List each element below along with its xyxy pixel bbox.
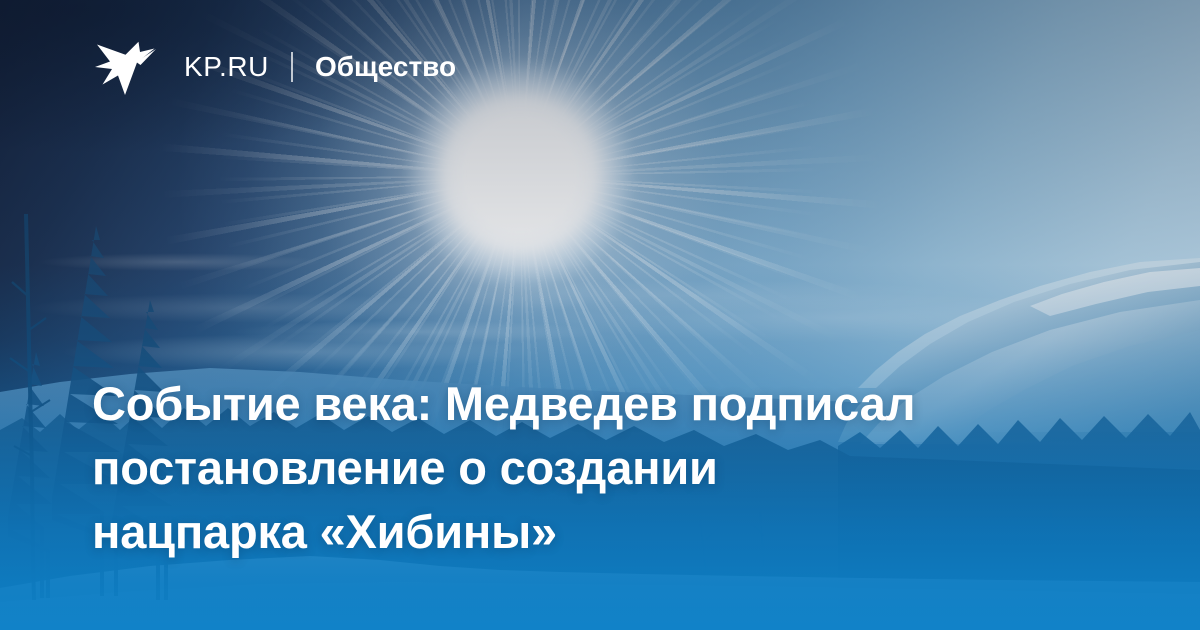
social-share-card: KP.RU Общество Событие века: Медведев по… — [0, 0, 1200, 630]
page-title: Событие века: Медведев подписал постанов… — [92, 372, 1102, 564]
rubric-label[interactable]: Общество — [315, 53, 456, 81]
headline-line-2: постановление о создании — [92, 436, 1102, 500]
card-header: KP.RU Общество — [92, 38, 456, 96]
headline-line-1: Событие века: Медведев подписал — [92, 372, 1102, 436]
brand-wordmark[interactable]: KP.RU — [184, 53, 269, 81]
headline-line-3: нацпарка «Хибины» — [92, 500, 1102, 564]
header-divider — [291, 52, 293, 82]
swallow-bird-logo-icon[interactable] — [92, 38, 158, 96]
